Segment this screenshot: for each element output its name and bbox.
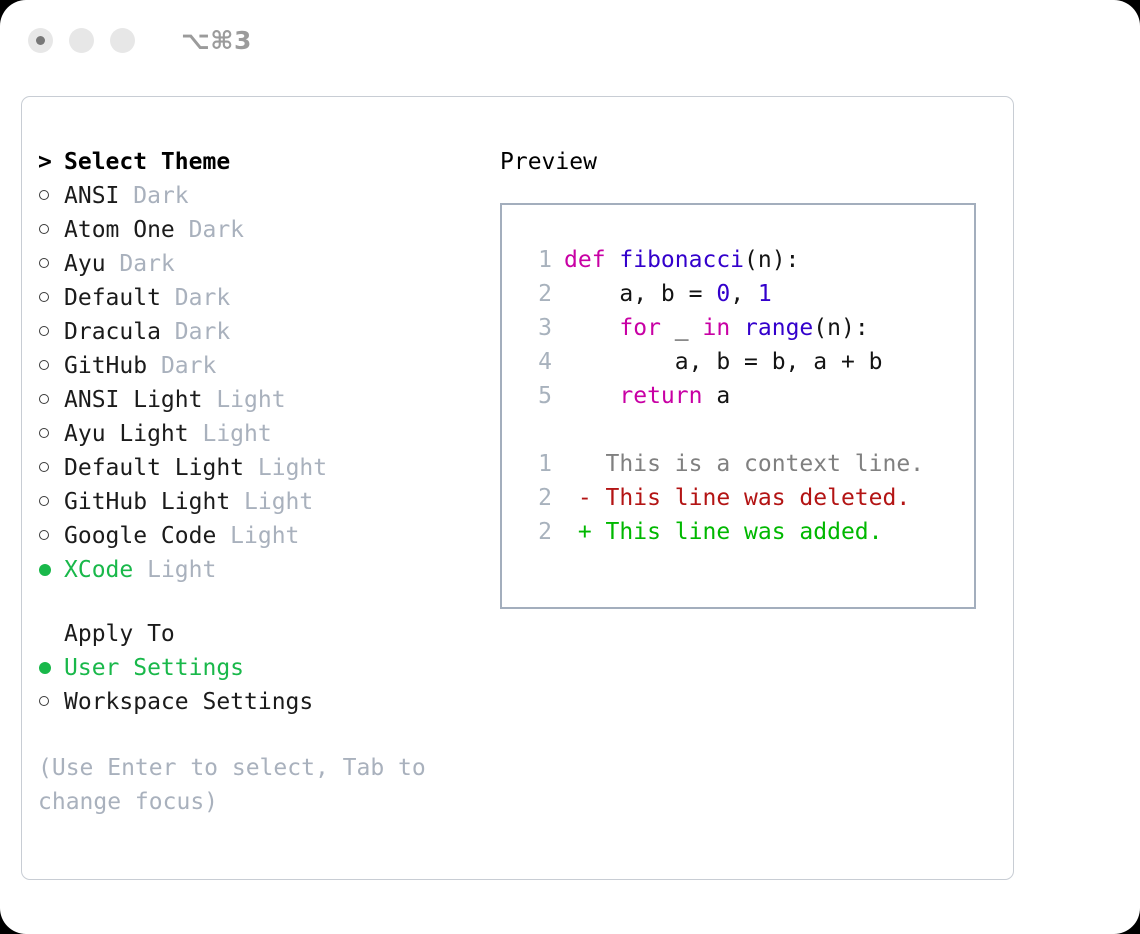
keyboard-shortcut-label: ⌥⌘3 [181,26,252,55]
code-token: def [564,247,619,273]
keyboard-hint-text: (Use Enter to select, Tab to change focu… [38,751,448,819]
theme-item-variant: Light [202,421,271,447]
code-line: 1def fibonacci(n): [518,243,974,277]
theme-item-variant: Dark [175,319,230,345]
apply-to-option-label: Workspace Settings [64,689,313,715]
theme-item-label: Google Code [64,523,230,549]
theme-item-variant: Light [230,523,299,549]
theme-item-variant: Dark [175,285,230,311]
line-number: 1 [518,451,564,477]
theme-item-label: XCode [64,557,147,583]
theme-item-default[interactable]: Default Dark [38,281,478,315]
code-sample: 1def fibonacci(n):2 a, b = 0, 13 for _ i… [518,243,974,413]
code-token: (n): [813,315,868,341]
window-dot-active-inner [36,36,45,45]
select-theme-header: >Select Theme [38,145,478,179]
apply-to-option-user-settings[interactable]: User Settings [38,651,478,685]
theme-item-variant: Light [147,557,216,583]
theme-item-atom-one[interactable]: Atom One Dark [38,213,478,247]
theme-item-ansi-light[interactable]: ANSI Light Light [38,383,478,417]
theme-item-label: ANSI Light [64,387,216,413]
theme-item-label: Ayu Light [64,421,202,447]
preview-column: Preview 1def fibonacci(n):2 a, b = 0, 13… [500,145,990,609]
theme-item-label: GitHub [64,353,161,379]
code-token: in [702,315,730,341]
theme-item-xcode[interactable]: XCode Light [38,553,478,587]
code-token: 0 [716,281,730,307]
theme-item-label: Atom One [64,217,189,243]
theme-item-variant: Dark [189,217,244,243]
window-dot-3[interactable] [110,28,135,53]
code-token: for [619,315,661,341]
theme-item-default-light[interactable]: Default Light Light [38,451,478,485]
window-dot-2[interactable] [69,28,94,53]
code-token: a, b = b, a + b [564,349,883,375]
app-window: ⌥⌘3 >Select Theme ANSI DarkAtom One Dark… [0,0,1140,934]
theme-item-ayu[interactable]: Ayu Dark [38,247,478,281]
theme-selector-column: >Select Theme ANSI DarkAtom One DarkAyu … [38,145,478,819]
code-diff-spacer [518,413,974,447]
code-token: + This line was added. [564,519,883,545]
line-number: 2 [518,519,564,545]
theme-item-variant: Light [244,489,313,515]
line-number: 4 [518,349,564,375]
diff-line: 2 + This line was added. [518,515,974,549]
theme-item-label: Dracula [64,319,175,345]
diff-line: 1 This is a context line. [518,447,974,481]
preview-panel: 1def fibonacci(n):2 a, b = 0, 13 for _ i… [500,203,976,609]
diff-sample: 1 This is a context line.2 - This line w… [518,447,974,549]
code-token: , [730,281,758,307]
theme-item-label: ANSI [64,183,133,209]
title-bar: ⌥⌘3 [0,0,1140,80]
line-number: 5 [518,383,564,409]
theme-item-variant: Light [258,455,327,481]
apply-to-label: Apply To [38,617,478,651]
code-line: 2 a, b = 0, 1 [518,277,974,311]
line-number: 3 [518,315,564,341]
apply-to-list: User SettingsWorkspace Settings [38,651,478,719]
code-token: - This line was deleted. [564,485,910,511]
theme-item-github-light[interactable]: GitHub Light Light [38,485,478,519]
line-number: 1 [518,247,564,273]
code-token: (n): [744,247,799,273]
theme-item-github[interactable]: GitHub Dark [38,349,478,383]
main-panel: >Select Theme ANSI DarkAtom One DarkAyu … [21,96,1014,880]
window-controls [28,28,135,53]
theme-item-variant: Dark [119,251,174,277]
code-token: range [744,315,813,341]
code-token [730,315,744,341]
code-token [564,383,619,409]
preview-title: Preview [500,145,990,179]
apply-to-option-workspace-settings[interactable]: Workspace Settings [38,685,478,719]
code-token: _ [661,315,703,341]
code-token: a, b = [564,281,716,307]
diff-line: 2 - This line was deleted. [518,481,974,515]
theme-item-variant: Dark [133,183,188,209]
theme-item-ansi[interactable]: ANSI Dark [38,179,478,213]
theme-item-label: Default [64,285,175,311]
theme-item-google-code[interactable]: Google Code Light [38,519,478,553]
theme-item-variant: Dark [161,353,216,379]
prompt-caret-icon: > [38,151,64,174]
code-line: 3 for _ in range(n): [518,311,974,345]
code-line: 4 a, b = b, a + b [518,345,974,379]
theme-list: ANSI DarkAtom One DarkAyu DarkDefault Da… [38,179,478,587]
code-line: 5 return a [518,379,974,413]
theme-item-ayu-light[interactable]: Ayu Light Light [38,417,478,451]
code-token: 1 [758,281,772,307]
code-token: return [619,383,702,409]
theme-item-dracula[interactable]: Dracula Dark [38,315,478,349]
window-dot-active[interactable] [28,28,53,53]
theme-item-label: GitHub Light [64,489,244,515]
select-theme-header-label: Select Theme [64,149,230,175]
code-token: fibonacci [619,247,744,273]
theme-item-label: Default Light [64,455,258,481]
theme-item-variant: Light [216,387,285,413]
theme-item-label: Ayu [64,251,119,277]
line-number: 2 [518,281,564,307]
apply-to-option-label: User Settings [64,655,244,681]
code-token: a [702,383,730,409]
code-token: This is a context line. [564,451,924,477]
code-token [564,315,619,341]
line-number: 2 [518,485,564,511]
section-spacer [38,587,478,617]
